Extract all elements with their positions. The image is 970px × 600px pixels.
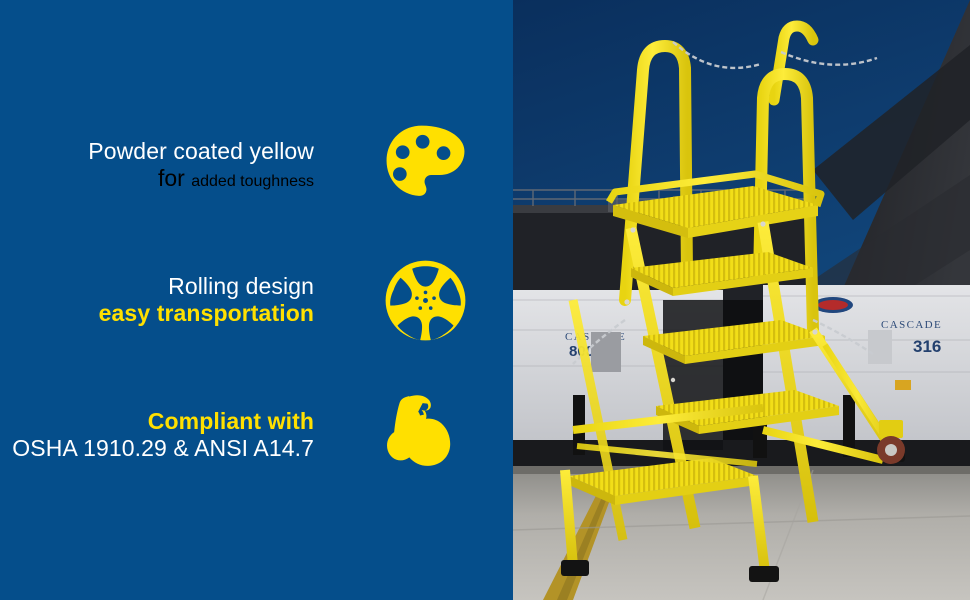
product-photo: CASCADE 800 CASCADE 316 [513,0,970,600]
product-feature-banner: Powder coated yellow for added toughness… [0,0,970,600]
paint-palette-icon [378,118,473,213]
feature-row-rolling-design: Rolling design easy transportation [0,233,513,368]
feature-text-compliance: Compliant with OSHA 1910.29 & ANSI A14.7 [0,408,378,462]
feature-line-2-prefix: for [158,165,191,191]
svg-text:316: 316 [913,337,941,356]
feature-line-2: for added toughness [0,165,314,192]
feature-row-compliance: Compliant with OSHA 1910.29 & ANSI A14.7 [0,368,513,503]
feature-row-powder-coated: Powder coated yellow for added toughness [0,98,513,233]
feature-line-1: Powder coated yellow [0,138,314,165]
feature-line-2: OSHA 1910.29 & ANSI A14.7 [0,435,314,462]
feature-text-rolling-design: Rolling design easy transportation [0,273,378,327]
feature-line-2-accent: added toughness [191,173,314,190]
svg-text:CASCADE: CASCADE [881,319,942,331]
feature-line-1: Rolling design [0,273,314,300]
wheel-icon [378,253,473,348]
feature-line-2-accent: easy transportation [0,300,314,327]
flexed-bicep-icon [378,388,473,483]
features-panel: Powder coated yellow for added toughness… [0,0,513,600]
feature-line-1-accent: Compliant with [0,408,314,435]
feature-text-powder-coated: Powder coated yellow for added toughness [0,138,378,192]
